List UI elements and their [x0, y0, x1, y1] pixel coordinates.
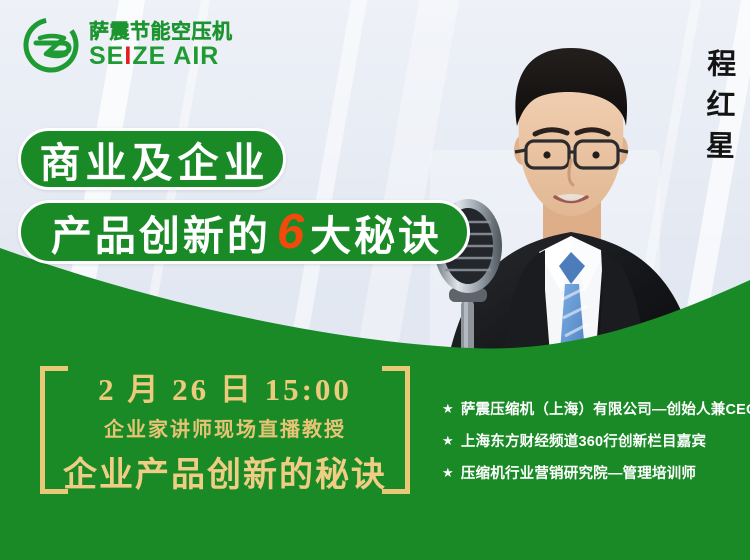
star-icon: ★	[442, 434, 454, 447]
event-info-block: 2 月 26 日 15:00 企业家讲师现场直播教授 企业产品创新的秘诀	[40, 366, 410, 494]
headline-number-six: 6	[271, 204, 310, 260]
brand-name-en: SEIZE AIR	[89, 44, 233, 69]
headline-line-2-pre: 产品创新的	[51, 202, 271, 262]
event-subtitle: 企业家讲师现场直播教授	[104, 413, 346, 442]
event-datetime: 2 月 26 日 15:00	[98, 364, 352, 409]
brand-en-pre: SE	[89, 42, 124, 70]
list-item: ★ 上海东方财经频道360行创新栏目嘉宾	[442, 430, 750, 451]
headline-line-1-text: 商业及企业	[40, 129, 270, 189]
star-icon: ★	[442, 402, 454, 415]
credential-text: 上海东方财经频道360行创新栏目嘉宾	[461, 430, 706, 451]
headline-line-2: 产品创新的6大秘诀	[18, 200, 470, 264]
brand-logo[interactable]: 萨震节能空压机 SEIZE AIR	[22, 16, 233, 74]
promo-poster: 萨震节能空压机 SEIZE AIR 商业及企业 产品创新的6大秘诀 程红星 2 …	[0, 0, 750, 560]
event-topic: 企业产品创新的秘诀	[63, 447, 387, 496]
brand-en-post: ZE AIR	[132, 42, 219, 70]
credential-text: 压缩机行业营销研究院—管理培训师	[461, 462, 696, 483]
credentials-list: ★ 萨震压缩机（上海）有限公司—创始人兼CEO ★ 上海东方财经频道360行创新…	[442, 398, 750, 483]
headline-line-2-post: 大秘诀	[310, 202, 442, 262]
list-item: ★ 压缩机行业营销研究院—管理培训师	[442, 462, 750, 483]
brand-name-cn: 萨震节能空压机	[89, 22, 233, 42]
star-icon: ★	[442, 466, 454, 479]
speaker-signature-name: 程红星	[685, 48, 733, 172]
sz-circle-logo-icon	[22, 16, 80, 74]
headline-line-1: 商业及企业	[18, 128, 286, 190]
credential-text: 萨震压缩机（上海）有限公司—创始人兼CEO	[461, 398, 750, 419]
list-item: ★ 萨震压缩机（上海）有限公司—创始人兼CEO	[442, 398, 750, 419]
